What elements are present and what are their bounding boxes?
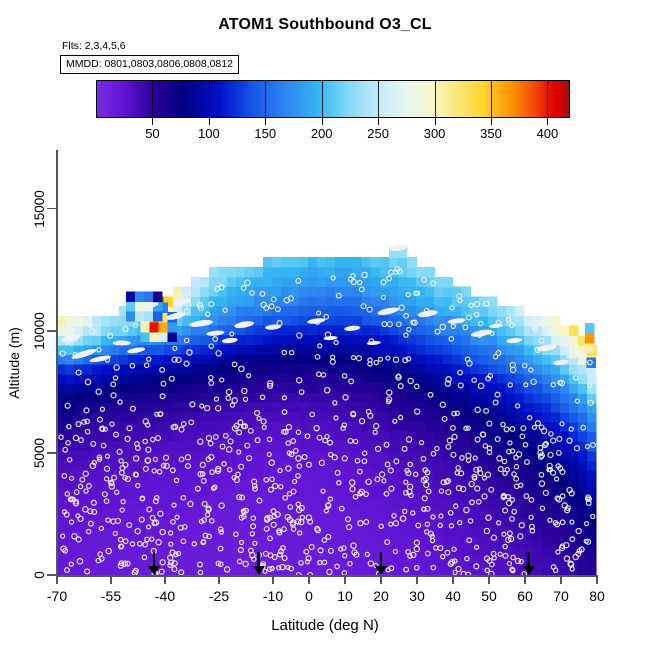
colorbar-separator	[491, 80, 492, 118]
colorbar-tick	[322, 118, 323, 125]
plot-area	[57, 150, 597, 575]
x-axis-tick-label: -40	[155, 588, 175, 604]
x-axis-tick	[218, 576, 220, 584]
y-axis-tick-label: 0	[32, 545, 48, 605]
y-axis-tick-label: 5000	[32, 423, 48, 483]
colorbar-separator	[547, 80, 548, 118]
x-axis-tick-label: 70	[553, 588, 569, 604]
colorbar-separator	[322, 80, 323, 118]
x-axis-tick-label: 50	[481, 588, 497, 604]
latitude-marker-arrowhead	[523, 566, 535, 575]
x-axis-tick	[56, 576, 58, 584]
y-axis-tick	[47, 330, 57, 332]
colorbar-tick-label: 250	[367, 126, 389, 141]
colorbar-tick	[435, 118, 436, 125]
latitude-marker-arrowhead	[375, 566, 387, 575]
x-axis-tick-label: 30	[409, 588, 425, 604]
x-axis-tick-label: -55	[101, 588, 121, 604]
colorbar-separator	[152, 80, 153, 118]
colorbar-tick-label: 400	[537, 126, 559, 141]
x-axis-tick-label: 0	[305, 588, 313, 604]
colorbar-tick-labels: 50100150200250300350400	[0, 126, 650, 142]
x-axis-tick	[452, 576, 454, 584]
x-axis-label: Latitude (deg N)	[0, 617, 650, 634]
colorbar-tick-label: 50	[145, 126, 159, 141]
x-axis-tick	[560, 576, 562, 584]
x-axis-tick	[308, 576, 310, 584]
x-axis-tick	[164, 576, 166, 584]
colorbar-tick-label: 100	[198, 126, 220, 141]
colorbar-tick	[265, 118, 266, 125]
figure-root: ATOM1 Southbound O3_CL Flts: 2,3,4,5,6 M…	[0, 0, 650, 650]
colorbar-separators	[96, 80, 570, 118]
y-axis-tick-label: 10000	[32, 301, 48, 361]
x-axis-tick	[488, 576, 490, 584]
y-axis-label: Altitude (m)	[5, 273, 23, 453]
x-axis-tick	[596, 576, 598, 584]
x-axis-tick-label: 20	[373, 588, 389, 604]
colorbar-separator	[435, 80, 436, 118]
x-axis-tick-label: -70	[47, 588, 67, 604]
x-axis-tick-label: 10	[337, 588, 353, 604]
colorbar-tick-label: 300	[424, 126, 446, 141]
colorbar	[96, 80, 570, 118]
colorbar-separator	[209, 80, 210, 118]
colorbar-tick	[209, 118, 210, 125]
colorbar-tick	[152, 118, 153, 125]
y-axis-tick	[47, 452, 57, 454]
colorbar-tick	[547, 118, 548, 125]
latitude-marker-arrowhead	[148, 566, 160, 575]
x-axis-tick	[380, 576, 382, 584]
latitude-marker-arrowhead	[253, 566, 265, 575]
page-title: ATOM1 Southbound O3_CL	[0, 16, 650, 34]
x-axis-tick	[416, 576, 418, 584]
colorbar-separator	[378, 80, 379, 118]
flights-annotation: Flts: 2,3,4,5,6	[62, 40, 126, 52]
colorbar-separator	[265, 80, 266, 118]
dates-annotation: MMDD: 0801,0803,0806,0808,0812	[60, 55, 239, 74]
colorbar-tick-label: 150	[254, 126, 276, 141]
x-axis-tick-label: -25	[209, 588, 229, 604]
colorbar-ticks	[96, 118, 570, 126]
colorbar-tick-label: 350	[480, 126, 502, 141]
x-axis-tick	[272, 576, 274, 584]
x-axis-line	[56, 575, 598, 577]
x-axis-tick	[344, 576, 346, 584]
x-axis-tick	[524, 576, 526, 584]
y-axis-line	[56, 150, 58, 576]
x-axis-tick-label: -10	[263, 588, 283, 604]
x-axis-tick-label: 80	[589, 588, 605, 604]
colorbar-tick-label: 200	[311, 126, 333, 141]
y-axis-tick	[47, 208, 57, 210]
colorbar-tick	[378, 118, 379, 125]
y-axis-tick-label: 15000	[32, 179, 48, 239]
x-axis-tick	[110, 576, 112, 584]
x-axis-tick-label: 40	[445, 588, 461, 604]
x-axis-tick-label: 60	[517, 588, 533, 604]
colorbar-tick	[491, 118, 492, 125]
